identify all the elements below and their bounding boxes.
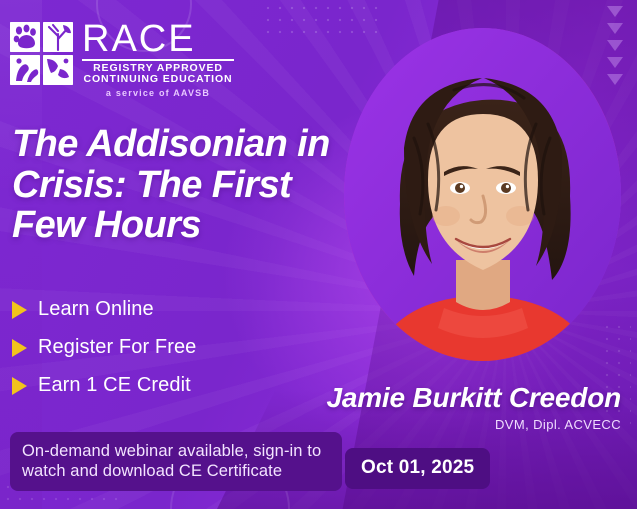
play-triangle-icon [12,377,27,395]
webinar-promo-poster: RACE REGISTRY APPROVED CONTINUING EDUCAT… [0,0,637,509]
paw-print-icon [10,22,40,52]
race-logo: RACE REGISTRY APPROVED CONTINUING EDUCAT… [10,22,234,98]
benefit-label: Register For Free [38,336,196,359]
logo-subtitle-line2: CONTINUING EDUCATION [82,74,234,86]
list-item: Learn Online [12,298,196,321]
race-logo-grid-icon [10,22,73,85]
race-logo-text: RACE REGISTRY APPROVED CONTINUING EDUCAT… [82,22,234,98]
avatar [344,28,621,361]
animal-silhouette-icon [10,55,40,85]
availability-note-box: On-demand webinar available, sign-in to … [10,432,342,491]
list-item: Register For Free [12,336,196,359]
benefit-label: Learn Online [38,298,154,321]
list-item: Earn 1 CE Credit [12,374,196,397]
speaker-name: Jamie Burkitt Creedon [291,384,621,412]
logo-subtitle-line3: a service of AAVSB [82,88,234,98]
benefit-label: Earn 1 CE Credit [38,374,191,397]
play-triangle-icon [12,339,27,357]
date-text: Oct 01, 2025 [361,457,474,478]
date-badge: Oct 01, 2025 [345,448,490,489]
benefits-list: Learn Online Register For Free Earn 1 CE… [12,298,196,412]
triangle-down-icon [607,6,623,17]
availability-note-text: On-demand webinar available, sign-in to … [22,441,330,481]
photo-clip [344,28,621,361]
webinar-title: The Addisonian in Crisis: The First Few … [12,124,368,246]
veterinary-leaf-icon [43,22,73,52]
speaker-photo [344,28,621,361]
speaker-credentials: DVM, Dipl. ACVECC [291,417,621,432]
play-triangle-icon [12,301,27,319]
stethoscope-icon [43,55,73,85]
race-wordmark: RACE [82,23,234,56]
speaker-info: Jamie Burkitt Creedon DVM, Dipl. ACVECC [291,384,621,432]
